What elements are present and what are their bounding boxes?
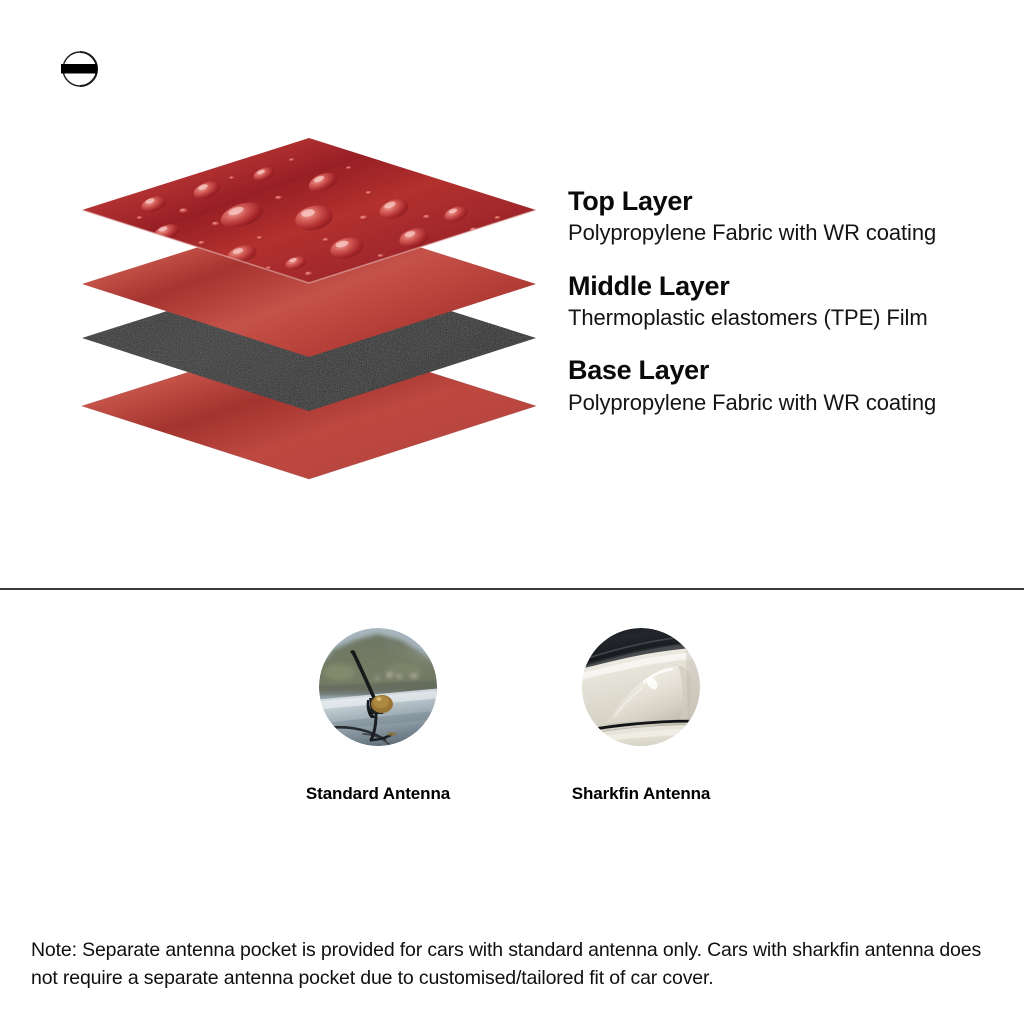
sharkfin-antenna-photo [582, 628, 700, 746]
legend-block-top-layer: Top Layer Polypropylene Fabric with WR c… [568, 186, 1008, 247]
legend-subtitle-top-layer: Polypropylene Fabric with WR coating [568, 219, 1008, 247]
legend-title-base-layer: Base Layer [568, 355, 1008, 385]
antenna-card-standard: Standard Antenna [258, 628, 498, 804]
layer-stack-diagram [64, 138, 554, 518]
legend-subtitle-base-layer: Polypropylene Fabric with WR coating [568, 389, 1008, 417]
legend-title-top-layer: Top Layer [568, 186, 1008, 216]
antenna-card-sharkfin: Sharkfin Antenna [521, 628, 761, 804]
legend-block-base-layer: Base Layer Polypropylene Fabric with WR … [568, 355, 1008, 416]
antenna-comparison-section: Standard Antenna [0, 628, 1024, 908]
brand-logo [54, 45, 112, 93]
legend-subtitle-middle-layer: Thermoplastic elastomers (TPE) Film [568, 304, 1008, 332]
legend-title-middle-layer: Middle Layer [568, 271, 1008, 301]
antenna-caption-standard: Standard Antenna [258, 784, 498, 804]
antenna-pocket-note: Note: Separate antenna pocket is provide… [31, 936, 997, 992]
layer-legend: Top Layer Polypropylene Fabric with WR c… [568, 186, 1008, 416]
layer-sheet-top-waterproof [64, 138, 554, 388]
antenna-caption-sharkfin: Sharkfin Antenna [521, 784, 761, 804]
brand-logo-icon [54, 45, 112, 93]
standard-antenna-photo [319, 628, 437, 746]
section-divider [0, 588, 1024, 590]
legend-block-middle-layer: Middle Layer Thermoplastic elastomers (T… [568, 271, 1008, 332]
